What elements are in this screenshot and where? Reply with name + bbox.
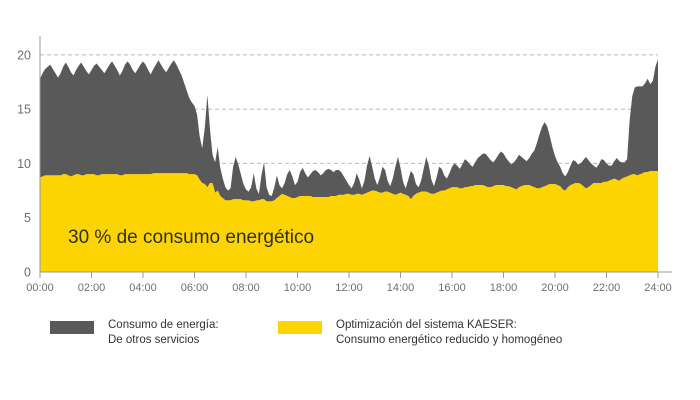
x-axis-tick-0000: 00:00 <box>26 282 54 294</box>
y-axis-tick-labels: 05101520 <box>17 48 31 279</box>
x-axis-tick-2000: 20:00 <box>541 282 569 294</box>
legend-swatch-yellow-icon <box>278 321 322 334</box>
y-axis-tick-15: 15 <box>17 103 31 117</box>
chart-annotation-label: 30 % de consumo energético <box>68 227 314 248</box>
legend-text-group: Optimización del sistema KAESER: Consumo… <box>336 318 562 348</box>
legend-text-group: Consumo de energía: De otros servicios <box>108 318 219 348</box>
x-axis-tick-0800: 08:00 <box>232 282 260 294</box>
legend-item-optimizacion-kaeser: Optimización del sistema KAESER: Consumo… <box>278 318 562 348</box>
y-axis-tick-5: 5 <box>24 211 31 225</box>
x-axis-tick-0400: 04:00 <box>129 282 157 294</box>
y-axis-tick-20: 20 <box>17 48 31 62</box>
legend-line-1: Consumo de energía: <box>108 318 219 333</box>
x-axis-tick-1200: 12:00 <box>335 282 363 294</box>
y-axis-tick-10: 10 <box>17 157 31 171</box>
x-axis-tick-1800: 18:00 <box>490 282 518 294</box>
y-axis-tick-0: 0 <box>24 266 31 280</box>
x-axis-tick-1400: 14:00 <box>387 282 415 294</box>
legend-line-2: De otros servicios <box>108 333 219 348</box>
legend-item-consumo-energia: Consumo de energía: De otros servicios <box>50 318 278 348</box>
legend-line-2: Consumo energético reducido y homogéneo <box>336 333 562 348</box>
x-axis-tick-labels: 00:0002:0004:0006:0008:0010:0012:0014:00… <box>26 282 672 294</box>
x-axis-tick-2200: 22:00 <box>593 282 621 294</box>
x-axis-tick-2400: 24:00 <box>644 282 672 294</box>
x-axis-tick-0200: 02:00 <box>78 282 106 294</box>
x-axis-tick-1000: 10:00 <box>284 282 312 294</box>
x-axis-tick-1600: 16:00 <box>438 282 466 294</box>
chart-legend: Consumo de energía: De otros servicios O… <box>50 318 660 348</box>
x-axis-tick-0600: 06:00 <box>181 282 209 294</box>
legend-swatch-gray-icon <box>50 321 94 334</box>
legend-line-1: Optimización del sistema KAESER: <box>336 318 562 333</box>
energy-consumption-chart: 05101520 00:0002:0004:0006:0008:0010:001… <box>0 0 700 400</box>
